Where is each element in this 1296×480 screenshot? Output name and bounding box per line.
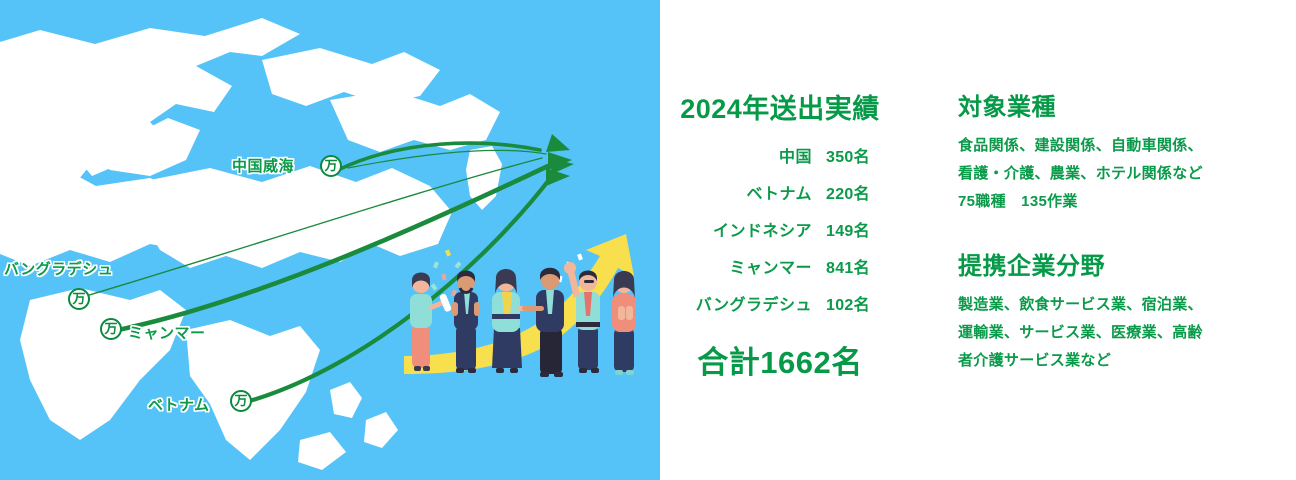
map-label-vietnam: ベトナム bbox=[148, 394, 210, 415]
stats-total: 合計1662名 bbox=[640, 337, 920, 382]
industries-body: 食品関係、建設関係、自動車関係、 看護・介護、農業、ホテル関係など 75職種 1… bbox=[958, 132, 1283, 215]
map-pin-myanmar[interactable]: 万 bbox=[100, 318, 122, 340]
map-label-myanmar: ミャンマー bbox=[128, 322, 206, 343]
stat-row: 中国 350名 bbox=[640, 143, 920, 167]
person-4 bbox=[522, 268, 564, 377]
business-people-illustration bbox=[398, 228, 650, 388]
industries-line: 75職種 135作業 bbox=[958, 188, 1283, 216]
infographic-root: 中国威海 万 バングラデシュ 万 万 ミャンマー ベトナム 万 bbox=[0, 0, 1296, 480]
stat-row: インドネシア 149名 bbox=[640, 217, 920, 241]
section-spacer bbox=[958, 215, 1283, 255]
partners-line: 運輸業、サービス業、医療業、高齢 bbox=[958, 319, 1283, 347]
stat-count: 220名 bbox=[826, 180, 920, 204]
stat-count: 102名 bbox=[826, 291, 920, 315]
map-label-bangladesh: バングラデシュ bbox=[4, 258, 113, 279]
stat-country: ベトナム bbox=[640, 180, 826, 204]
person-2 bbox=[452, 271, 480, 374]
stat-country: バングラデシュ bbox=[640, 291, 826, 315]
partners-body: 製造業、飲食サービス業、宿泊業、 運輸業、サービス業、医療業、高齢 者介護サービ… bbox=[958, 291, 1283, 374]
map-pin-bangladesh[interactable]: 万 bbox=[68, 288, 90, 310]
stat-count: 350名 bbox=[826, 143, 920, 167]
stat-country: 中国 bbox=[640, 143, 826, 167]
stats-title: 2024年送出実績 bbox=[640, 96, 920, 123]
industries-line: 看護・介護、農業、ホテル関係など bbox=[958, 160, 1283, 188]
stat-row: ベトナム 220名 bbox=[640, 180, 920, 204]
stat-country: インドネシア bbox=[640, 217, 826, 241]
partners-line: 者介護サービス業など bbox=[958, 347, 1283, 375]
partners-line: 製造業、飲食サービス業、宿泊業、 bbox=[958, 291, 1283, 319]
stat-row: バングラデシュ 102名 bbox=[640, 291, 920, 315]
stat-country: ミャンマー bbox=[640, 254, 826, 278]
stat-row: ミャンマー 841名 bbox=[640, 254, 920, 278]
person-3 bbox=[492, 269, 540, 373]
stats-panel: 2024年送出実績 中国 350名 ベトナム 220名 インドネシア 149名 … bbox=[640, 96, 920, 382]
stat-count: 841名 bbox=[826, 254, 920, 278]
industries-line: 食品関係、建設関係、自動車関係、 bbox=[958, 132, 1283, 160]
stat-count: 149名 bbox=[826, 217, 920, 241]
right-column: 対象業種 食品関係、建設関係、自動車関係、 看護・介護、農業、ホテル関係など 7… bbox=[958, 96, 1283, 375]
industries-title: 対象業種 bbox=[958, 96, 1283, 120]
map-pin-china-weihai[interactable]: 万 bbox=[320, 155, 342, 177]
person-6 bbox=[612, 271, 636, 375]
map-pin-vietnam[interactable]: 万 bbox=[230, 390, 252, 412]
partners-title: 提携企業分野 bbox=[958, 255, 1283, 279]
map-label-china-weihai: 中国威海 bbox=[232, 155, 294, 176]
